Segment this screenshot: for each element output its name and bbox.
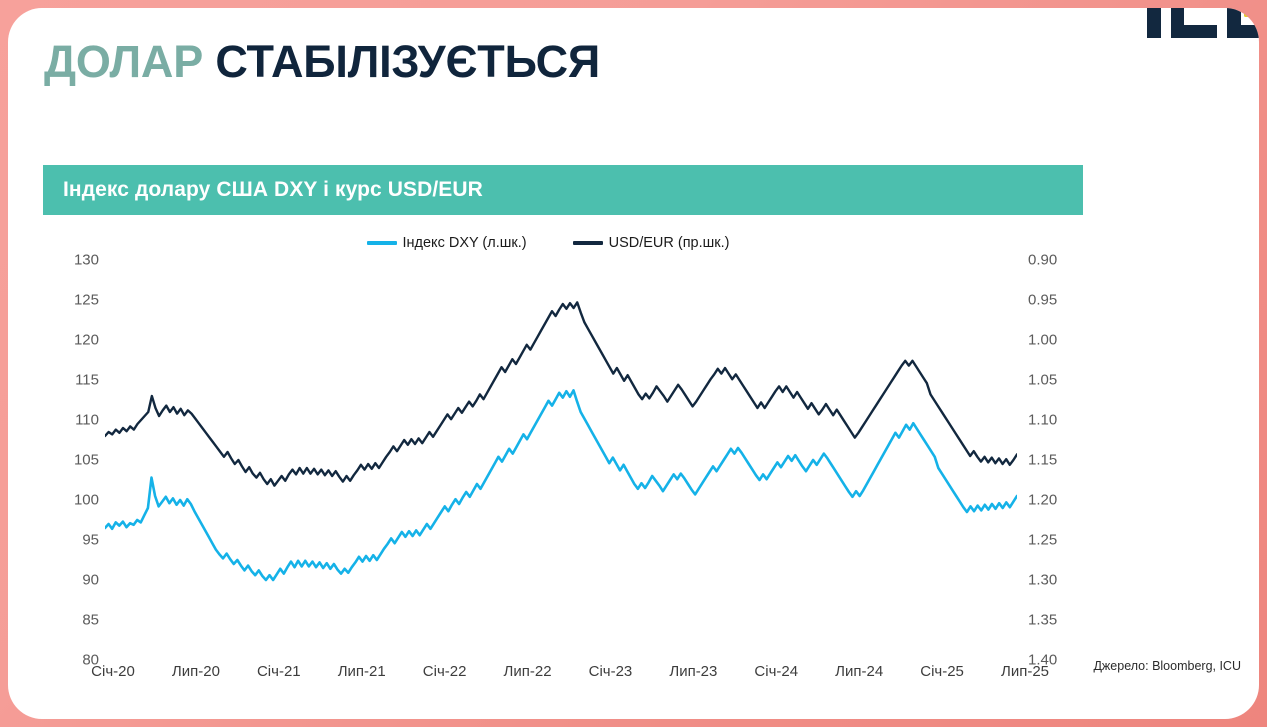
y-axis-right: 0.900.951.001.051.101.151.201.251.301.35… <box>1028 260 1074 660</box>
x-tick: Січ-20 <box>91 663 135 680</box>
legend-swatch-dxy <box>367 241 397 245</box>
y-tick-left: 115 <box>53 372 99 389</box>
chart-plot-wrapper: 13012512011511010510095908580 0.900.951.… <box>43 260 1083 660</box>
series-line-dxy <box>105 390 1017 580</box>
chart-title-banner: Індекс долару США DXY і курс USD/EUR <box>43 165 1083 215</box>
source-note: Джерело: Bloomberg, ICU <box>1093 659 1241 673</box>
page-title-accent: ДОЛАР <box>44 36 203 87</box>
y-tick-right: 1.15 <box>1028 452 1074 469</box>
x-tick: Лип-24 <box>835 663 883 680</box>
y-tick-left: 130 <box>53 252 99 269</box>
y-tick-left: 125 <box>53 292 99 309</box>
page-title-main: СТАБІЛІЗУЄТЬСЯ <box>215 36 600 87</box>
page-title: ДОЛАР СТАБІЛІЗУЄТЬСЯ <box>44 34 600 90</box>
x-tick: Лип-25 <box>1001 663 1049 680</box>
chart-title: Індекс долару США DXY і курс USD/EUR <box>43 178 483 202</box>
x-tick: Лип-23 <box>669 663 717 680</box>
legend-item-usdeur: USD/EUR (пр.шк.) <box>573 235 730 251</box>
plot-area <box>105 260 1017 660</box>
x-tick: Січ-25 <box>920 663 964 680</box>
y-tick-right: 1.20 <box>1028 492 1074 509</box>
icu-logo <box>1147 8 1259 50</box>
x-tick: Січ-24 <box>754 663 798 680</box>
x-tick: Січ-22 <box>423 663 467 680</box>
y-tick-left: 105 <box>53 452 99 469</box>
y-tick-right: 1.30 <box>1028 572 1074 589</box>
y-tick-left: 110 <box>53 412 99 429</box>
x-tick: Лип-22 <box>504 663 552 680</box>
x-tick: Лип-20 <box>172 663 220 680</box>
x-axis: Січ-20Лип-20Січ-21Лип-21Січ-22Лип-22Січ-… <box>105 663 1017 687</box>
y-tick-left: 90 <box>53 572 99 589</box>
x-tick: Січ-23 <box>589 663 633 680</box>
y-tick-left: 85 <box>53 612 99 629</box>
y-tick-right: 1.35 <box>1028 612 1074 629</box>
y-tick-right: 1.25 <box>1028 532 1074 549</box>
y-tick-right: 1.05 <box>1028 372 1074 389</box>
legend-item-dxy: Індекс DXY (л.шк.) <box>367 235 527 251</box>
x-tick: Лип-21 <box>338 663 386 680</box>
series-svg <box>105 260 1017 660</box>
y-tick-right: 0.90 <box>1028 252 1074 269</box>
y-tick-left: 120 <box>53 332 99 349</box>
legend-label-usdeur: USD/EUR (пр.шк.) <box>609 235 730 251</box>
x-tick: Січ-21 <box>257 663 301 680</box>
chart-legend: Індекс DXY (л.шк.) USD/EUR (пр.шк.) <box>8 235 1088 251</box>
y-tick-left: 95 <box>53 532 99 549</box>
y-tick-right: 1.00 <box>1028 332 1074 349</box>
legend-swatch-usdeur <box>573 241 603 245</box>
y-axis-left: 13012512011511010510095908580 <box>53 260 99 660</box>
legend-label-dxy: Індекс DXY (л.шк.) <box>403 235 527 251</box>
y-tick-right: 0.95 <box>1028 292 1074 309</box>
slide-card: ДОЛАР СТАБІЛІЗУЄТЬСЯ Індекс долару США D… <box>8 8 1259 719</box>
y-tick-left: 100 <box>53 492 99 509</box>
y-tick-right: 1.10 <box>1028 412 1074 429</box>
